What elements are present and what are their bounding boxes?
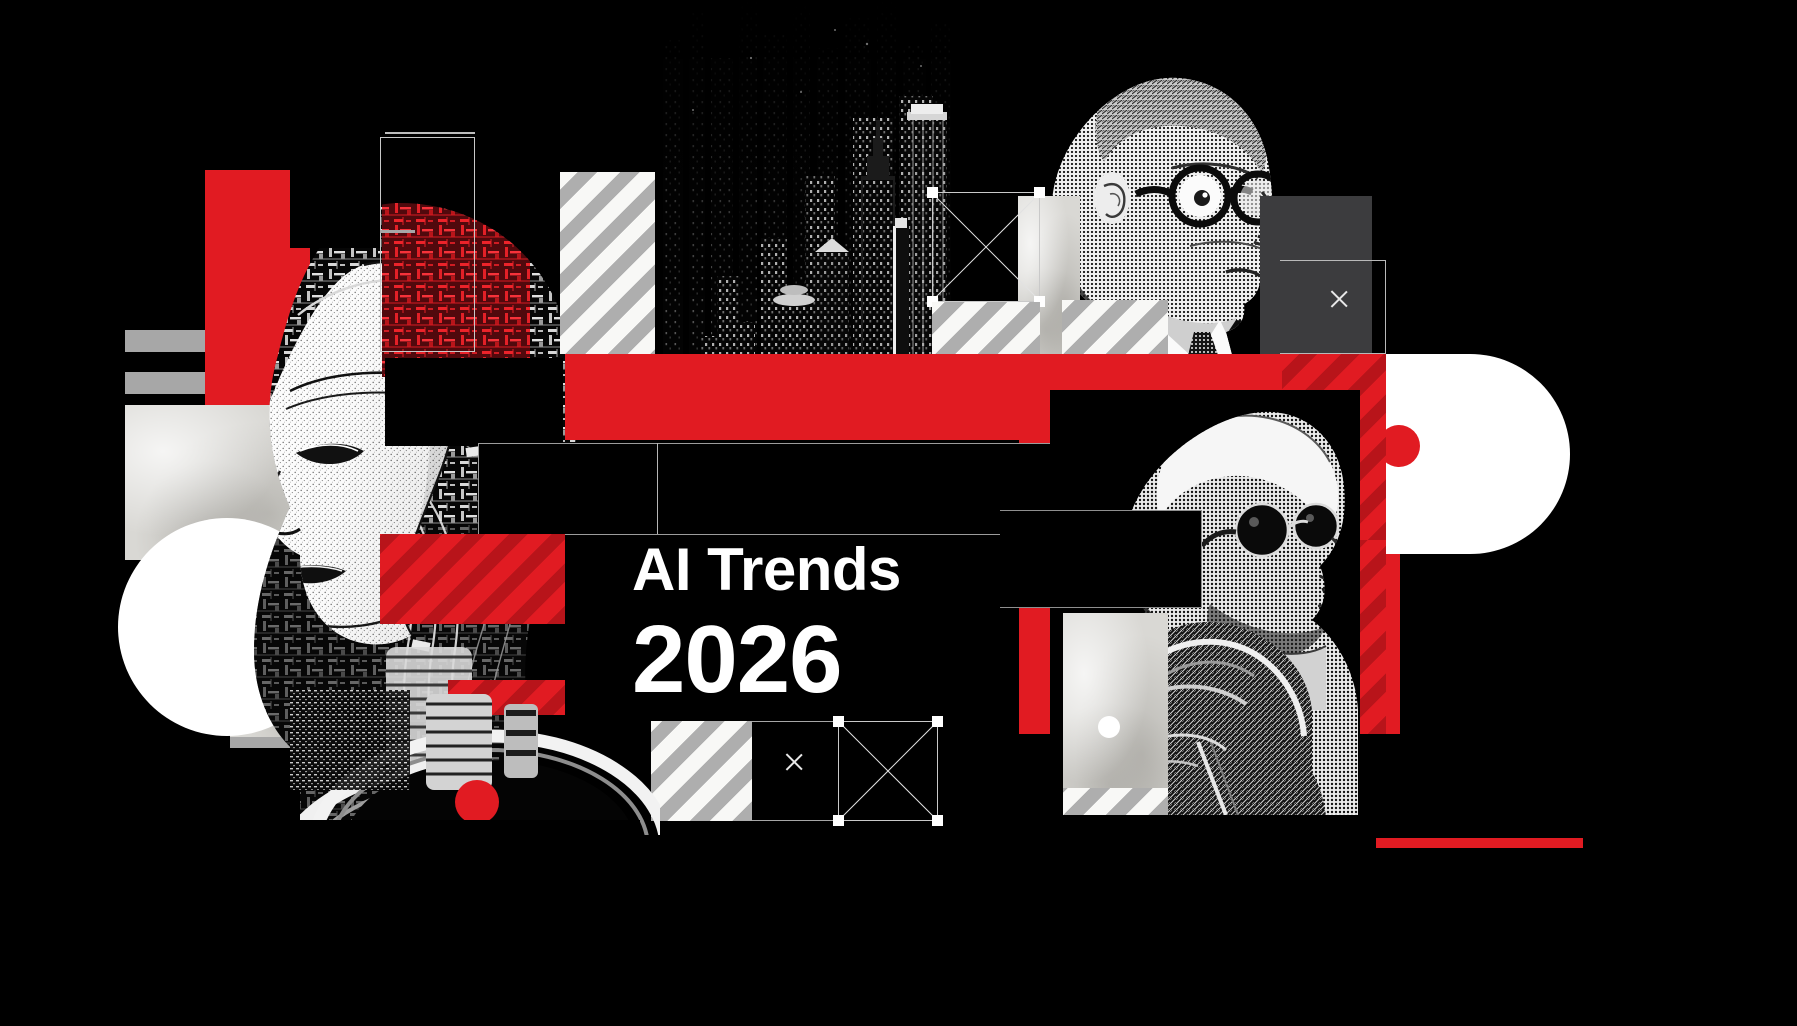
red-dot-bottom-left: [455, 780, 499, 824]
crop-diagonal-2-bottom: [839, 722, 937, 820]
x-marker-right: [1328, 288, 1350, 310]
vertical-divider-black-bar: [657, 443, 658, 535]
striped-gray-block-upper-center: [560, 172, 670, 354]
crop-diagonal-2: [933, 193, 1039, 301]
black-mask-bar-lower: [1000, 510, 1202, 608]
striped-gray-block-under-crop: [932, 302, 1040, 354]
white-dot-lower-left-of-figure: [1098, 716, 1120, 738]
striped-gray-block-bottom: [651, 721, 752, 821]
title-line-1: AI Trends: [632, 540, 901, 600]
black-mask-top-edge: [0, 0, 655, 130]
crop-box-bottom[interactable]: [838, 721, 938, 821]
black-mask-left-edge: [0, 0, 118, 1026]
frame-line-top-head: [385, 132, 475, 134]
crop-handle-bottom-box-top-right[interactable]: [932, 716, 943, 727]
striped-red-block-left: [380, 534, 565, 624]
black-mask-head-top: [290, 148, 380, 248]
striped-gray-block-right: [1062, 300, 1168, 354]
crop-handle-bottom-box-top-left[interactable]: [833, 716, 844, 727]
title-line-2: 2026: [632, 612, 901, 708]
x-marker-bottom: [783, 751, 805, 773]
poster-title: AI Trends 2026: [632, 540, 901, 708]
outline-frame-head: [380, 137, 475, 352]
crop-handle-bottom-box-bottom-left[interactable]: [833, 815, 844, 826]
city-skyline-photo: [655, 0, 955, 355]
crop-handle-bottom-box-bottom-right[interactable]: [932, 815, 943, 826]
black-mask-top-right: [955, 0, 1797, 70]
red-underline-bar-repeat: [1376, 838, 1583, 848]
concrete-block-lower-right: [1063, 613, 1168, 815]
crop-handle-top-right[interactable]: [1034, 187, 1045, 198]
black-mask-right-edge: [1570, 0, 1797, 835]
striped-gray-block-lower-right: [1063, 788, 1168, 815]
crop-handle-top-left[interactable]: [927, 187, 938, 198]
black-panel-left-of-red-bar: [385, 358, 563, 446]
black-mask-bottom-strip: [0, 835, 1797, 1026]
crop-box-top[interactable]: [932, 192, 1040, 302]
poster-canvas: AI Trends 2026: [0, 0, 1797, 1026]
